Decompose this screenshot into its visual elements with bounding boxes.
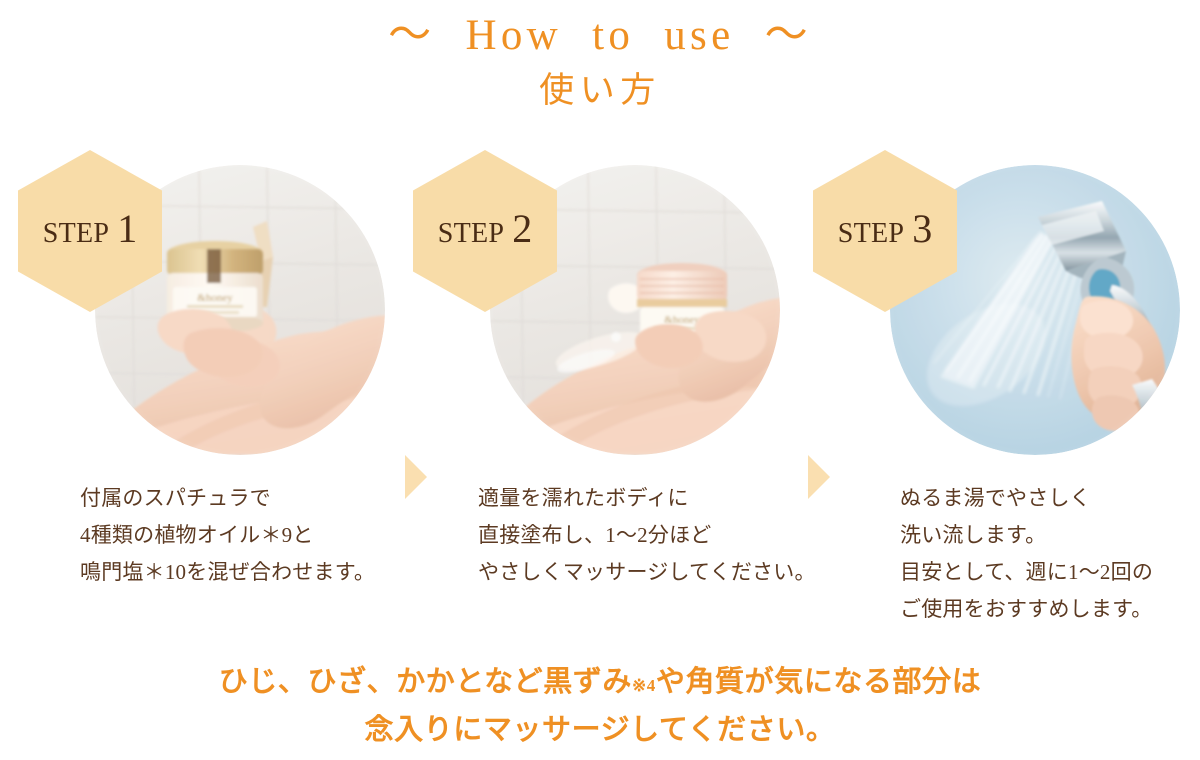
step-card-2: &honey STEP 2 [405,150,795,470]
step-2-caption: 適量を濡れたボディに 直接塗布し、1〜2分ほど やさしくマッサージしてください。 [478,480,816,591]
step-1-caption-line-1: 付属のスパチュラで [80,480,375,517]
step-card-3: STEP 3 [805,150,1195,470]
step-1-badge-number: 1 [117,209,137,249]
step-card-1: &honey STEP 1 [10,150,400,470]
step-1-caption-line-3: 鳴門塩＊10を混ぜ合わせます。 [80,554,375,591]
step-3-caption: ぬるま湯でやさしく 洗い流します。 目安として、週に1〜2回の ご使用をおすすめ… [900,480,1153,628]
footer-line-1-text-b: や角質が気になる部分は [656,666,981,698]
steps-row: &honey STEP 1 [0,150,1200,470]
footer-reference-marker: ※4 [632,676,656,695]
footer-line-1: ひじ、ひざ、かかとなど黒ずみ※4や角質が気になる部分は [0,660,1200,708]
footer-note: ひじ、ひざ、かかとなど黒ずみ※4や角質が気になる部分は 念入りにマッサージしてく… [0,660,1200,753]
step-captions: 付属のスパチュラで 4種類の植物オイル＊9と 鳴門塩＊10を混ぜ合わせます。 適… [0,480,1200,640]
step-1-caption: 付属のスパチュラで 4種類の植物オイル＊9と 鳴門塩＊10を混ぜ合わせます。 [80,480,375,591]
footer-line-2: 念入りにマッサージしてください。 [0,708,1200,753]
step-3-caption-line-4: ご使用をおすすめします。 [900,591,1153,628]
page-heading: ～ How to use ～ 使い方 [0,10,1200,114]
step-2-caption-line-1: 適量を濡れたボディに [478,480,816,517]
step-3-caption-line-2: 洗い流します。 [900,517,1153,554]
step-1-caption-line-2: 4種類の植物オイル＊9と [80,517,375,554]
step-3-caption-line-1: ぬるま湯でやさしく [900,480,1153,517]
footer-line-1-text-a: ひじ、ひざ、かかとなど黒ずみ [219,666,632,698]
step-3-caption-line-3: 目安として、週に1〜2回の [900,554,1153,591]
step-2-caption-line-2: 直接塗布し、1〜2分ほど [478,517,816,554]
step-2-badge-word: STEP [438,218,504,250]
step-2-caption-line-3: やさしくマッサージしてください。 [478,554,816,591]
step-3-badge-word: STEP [838,218,904,250]
heading-japanese: 使い方 [0,68,1200,114]
step-3-badge-number: 3 [912,209,932,249]
heading-english: ～ How to use ～ [0,10,1200,62]
step-1-badge-word: STEP [43,218,109,250]
step-2-badge-number: 2 [512,209,532,249]
